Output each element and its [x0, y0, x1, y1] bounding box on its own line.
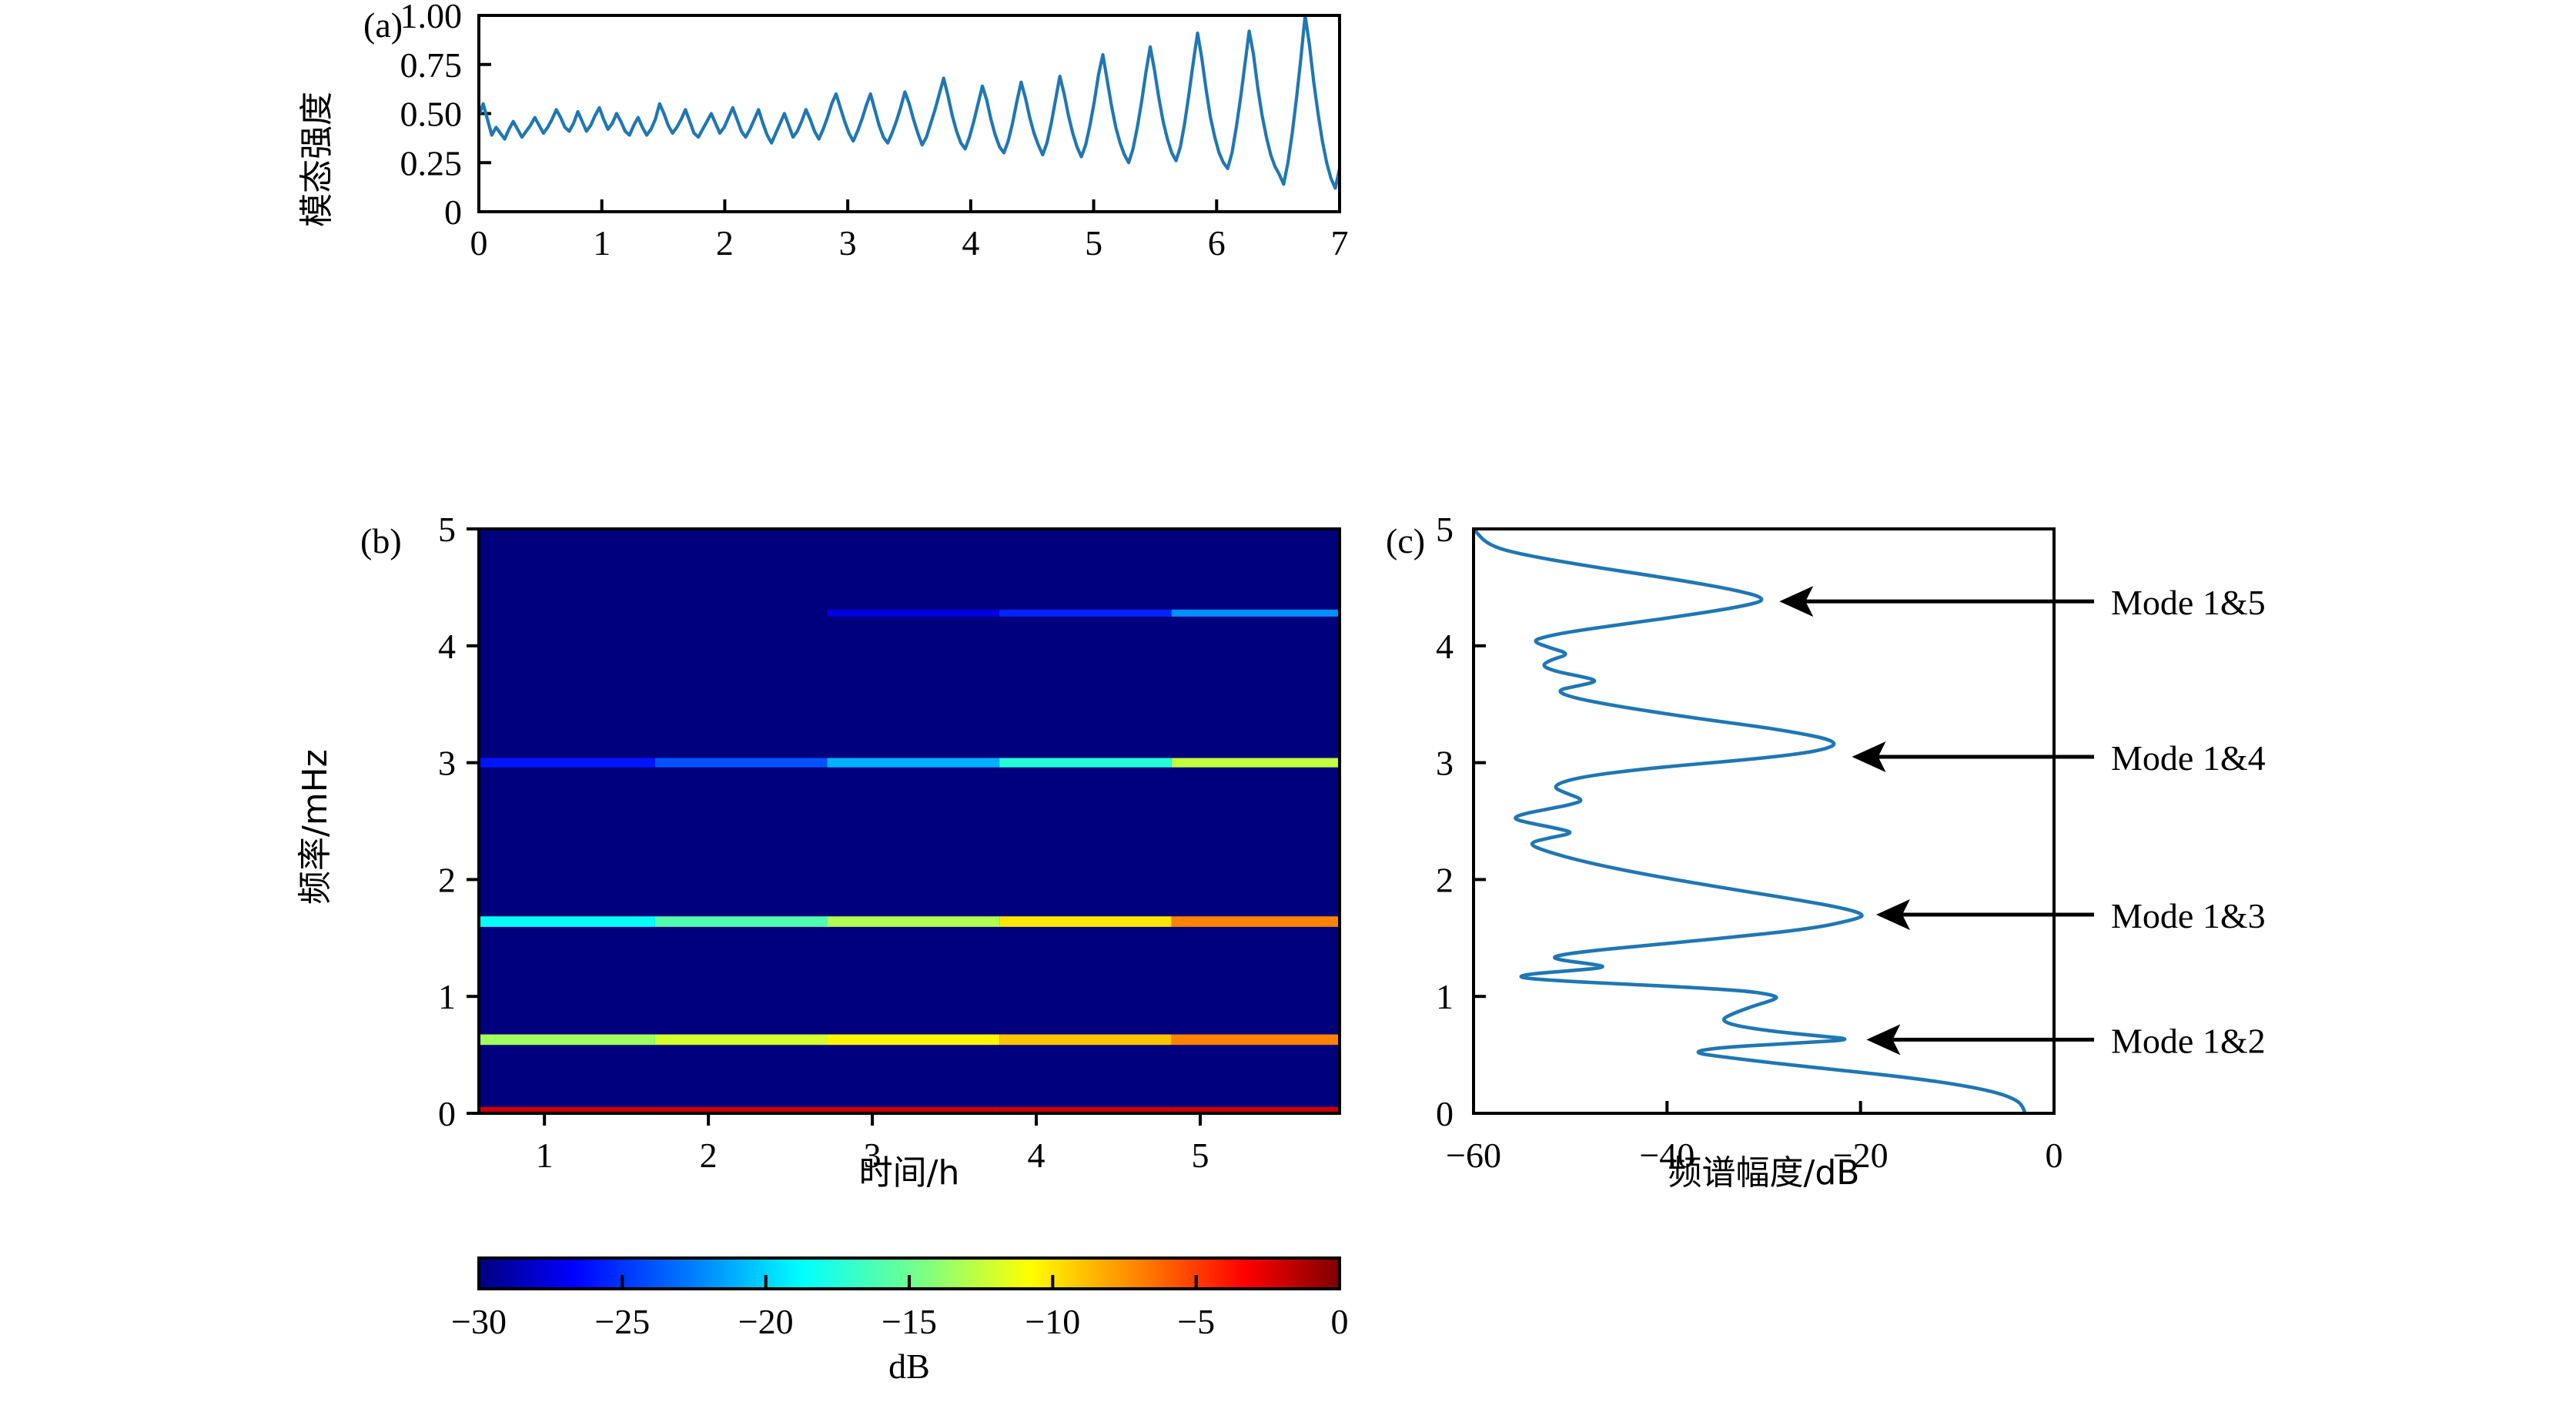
colorbar-tick-label: −25 [594, 1302, 650, 1341]
panel-a-y-tick-label: 1.00 [400, 0, 463, 35]
panel-b-y-tick-label: 4 [438, 627, 456, 666]
panel-c-y-tick-label: 5 [1436, 510, 1454, 549]
panel-b-heatmap-cell [1172, 1035, 1340, 1046]
panel-a-x-tick-label: 7 [1331, 223, 1349, 263]
panel-b-heatmap-cell [655, 758, 828, 768]
panel-b-y-tick-label: 2 [438, 860, 456, 899]
panel-b-heatmap-cell [479, 1035, 655, 1046]
colorbar-tick-label: −15 [882, 1302, 937, 1341]
panel-b-heatmap-cell [655, 1035, 828, 1046]
panel-a-x-tick-label: 1 [593, 223, 611, 263]
panel-c-y-tick-label: 0 [1436, 1094, 1454, 1133]
panel-b-heatmap-cell [1172, 610, 1340, 617]
panel-b-x-tick-label: 5 [1191, 1136, 1209, 1175]
panel-b-heatmap-cell [479, 758, 655, 768]
figure-root: (a) 00.250.500.751.00 01234567 模态强度 (b) … [0, 0, 2576, 1402]
panel-b-heatmap-cell [655, 916, 828, 927]
colorbar-tick-label: 0 [1331, 1302, 1349, 1341]
panel-a-y-tick-label: 0.75 [400, 45, 463, 85]
panel-b-x-axis-label: 时间/h [859, 1153, 960, 1193]
panel-c-y-tick-label: 3 [1436, 744, 1454, 783]
annotation-label: Mode 1&3 [2111, 896, 2266, 935]
panel-b-heatmap-cell [479, 916, 655, 927]
panel-b-heatmap-cell [999, 916, 1172, 927]
panel-c-x-axis-label: 频谱幅度/dB [1668, 1153, 1860, 1193]
panel-a-y-tick-label: 0.50 [400, 95, 463, 134]
panel-b-x-tick-label: 1 [536, 1136, 554, 1175]
panel-c-label: (c) [1386, 521, 1425, 560]
figure-svg: (a) 00.250.500.751.00 01234567 模态强度 (b) … [0, 0, 2576, 1402]
panel-b-x-tick-label: 4 [1028, 1136, 1045, 1175]
panel-b-y-tick-label: 5 [438, 510, 456, 549]
panel-b-label: (b) [360, 521, 402, 560]
colorbar-tick-label: −10 [1025, 1302, 1080, 1341]
panel-b-x-tick-label: 2 [700, 1136, 718, 1175]
panel-b-heatmap-cell [828, 610, 1000, 617]
panel-a-y-tick-label: 0 [444, 192, 462, 232]
annotation-label: Mode 1&2 [2111, 1021, 2266, 1060]
panel-b-heatmap-cell [999, 1035, 1172, 1046]
panel-b-heatmap-cell [828, 1035, 1000, 1046]
colorbar-tick-label: −5 [1177, 1302, 1215, 1341]
panel-c-y-tick-label: 1 [1436, 977, 1454, 1016]
colorbar-tick-label: −20 [738, 1302, 794, 1341]
panel-b-y-tick-label: 0 [438, 1094, 456, 1133]
panel-a-x-tick-label: 3 [839, 223, 857, 263]
panel-a-x-tick-label: 6 [1208, 223, 1226, 263]
panel-b-heatmap-cell [999, 610, 1172, 617]
panel-b-heatmap-cell [999, 758, 1172, 768]
panel-a-x-tick-label: 4 [962, 223, 979, 263]
panel-a-x-tick-label: 2 [716, 223, 734, 263]
panel-c-y-tick-label: 2 [1436, 860, 1454, 899]
panel-a-y-axis-label: 模态强度 [297, 92, 336, 227]
panel-b-heatmap-cell [828, 916, 1000, 927]
panel-a-x-tick-label: 5 [1085, 223, 1102, 263]
panel-a-x-tick-label: 0 [470, 223, 488, 263]
panel-b-heatmap-cells [479, 529, 1340, 1115]
panel-a-y-tick-label: 0.25 [400, 143, 463, 182]
panel-b-heatmap-cell [1172, 916, 1340, 927]
colorbar-label: dB [888, 1347, 930, 1386]
panel-c-y-tick-label: 4 [1436, 627, 1454, 666]
annotation-label: Mode 1&4 [2111, 738, 2266, 778]
panel-b-heatmap-cell [1172, 758, 1340, 768]
panel-c-x-tick-label: −60 [1446, 1136, 1501, 1175]
panel-b-y-tick-label: 3 [438, 744, 456, 783]
annotation-label: Mode 1&5 [2111, 583, 2266, 622]
panel-a-label: (a) [363, 5, 403, 45]
panel-c-x-tick-label: 0 [2046, 1136, 2063, 1175]
panel-b-y-axis-label: 频率/mHz [296, 749, 335, 905]
colorbar-tick-label: −30 [451, 1302, 507, 1341]
panel-b-y-tick-label: 1 [438, 977, 456, 1016]
panel-b-heatmap-cell [828, 758, 1000, 768]
